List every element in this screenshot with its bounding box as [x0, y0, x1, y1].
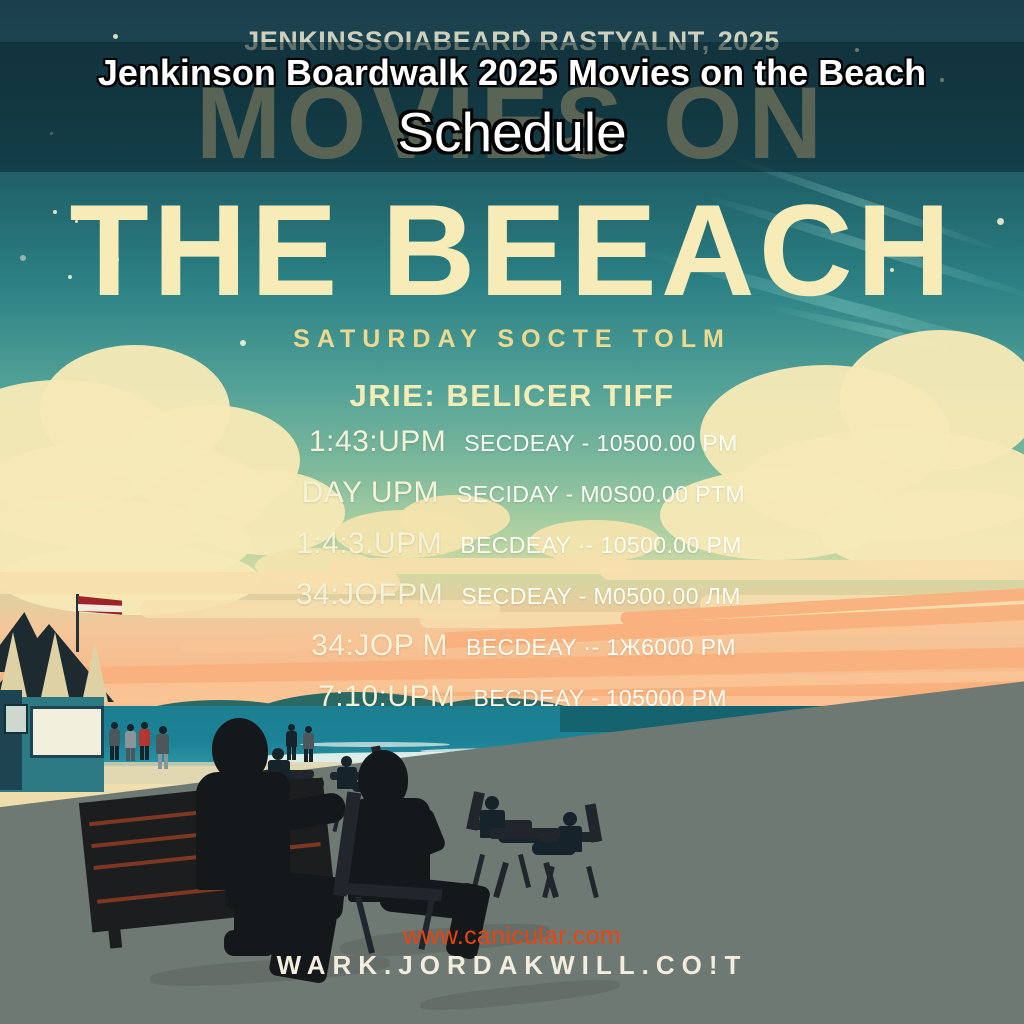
schedule-description: BECDEAY ·- 10500.00 PM [460, 532, 742, 559]
schedule-time: 1:43:UPM [286, 425, 446, 459]
poster-image: JENKINSSOIABEARD RASTYALNT, 2025 MOVIES … [0, 0, 1024, 1024]
schedule-row: DAY UPM SECIDAY - M0S00.00 PTM [0, 476, 1024, 527]
schedule-time: DAY UPM [279, 476, 439, 510]
poster-date-line: SATURDAY SOCTE TOLM [0, 325, 1024, 354]
url-secondary: WARK.JORDAKWILL.CO!T [0, 950, 1024, 981]
schedule-row: 34:JOFPM SECDEAY - M0500.00 ЛM [0, 578, 1024, 629]
schedule-row: 1:4:3.UPM BECDEAY ·- 10500.00 PM [0, 527, 1024, 578]
schedule-time: 34:JOP M [288, 629, 448, 663]
schedule-description: SECIDAY - M0S00.00 PTM [457, 481, 745, 508]
schedule-description: BECDEAY ·- 1Ж6000 PM [466, 634, 736, 661]
schedule-time: 7:10:UPM [296, 680, 456, 714]
url-primary: www.canicular.com [0, 922, 1024, 951]
schedule-row: 34:JOP M BECDEAY ·- 1Ж6000 PM [0, 629, 1024, 680]
schedule-description: SECDEAY - 10500.00 PM [464, 430, 737, 457]
schedule-time: 34:JOFPM [283, 578, 443, 612]
schedule-row: 7:10:UPM BECDEAY - 105000 PM [0, 680, 1024, 731]
schedule-list: 1:43:UPM SECDEAY - 10500.00 PM DAY UPM S… [0, 425, 1024, 731]
overlay-subtitle: Schedule [0, 100, 1024, 164]
overlay-title: Jenkinson Boardwalk 2025 Movies on the B… [0, 52, 1024, 94]
schedule-description: SECDEAY - M0500.00 ЛM [461, 583, 741, 610]
schedule-description: BECDEAY - 105000 PM [474, 685, 729, 712]
poster-headline-2: THE BEEACH [0, 185, 1024, 315]
schedule-time: 1:4:3.UPM [282, 527, 442, 561]
poster-feature-line: JRIE: BELICER TIFF [0, 378, 1024, 414]
schedule-row: 1:43:UPM SECDEAY - 10500.00 PM [0, 425, 1024, 476]
